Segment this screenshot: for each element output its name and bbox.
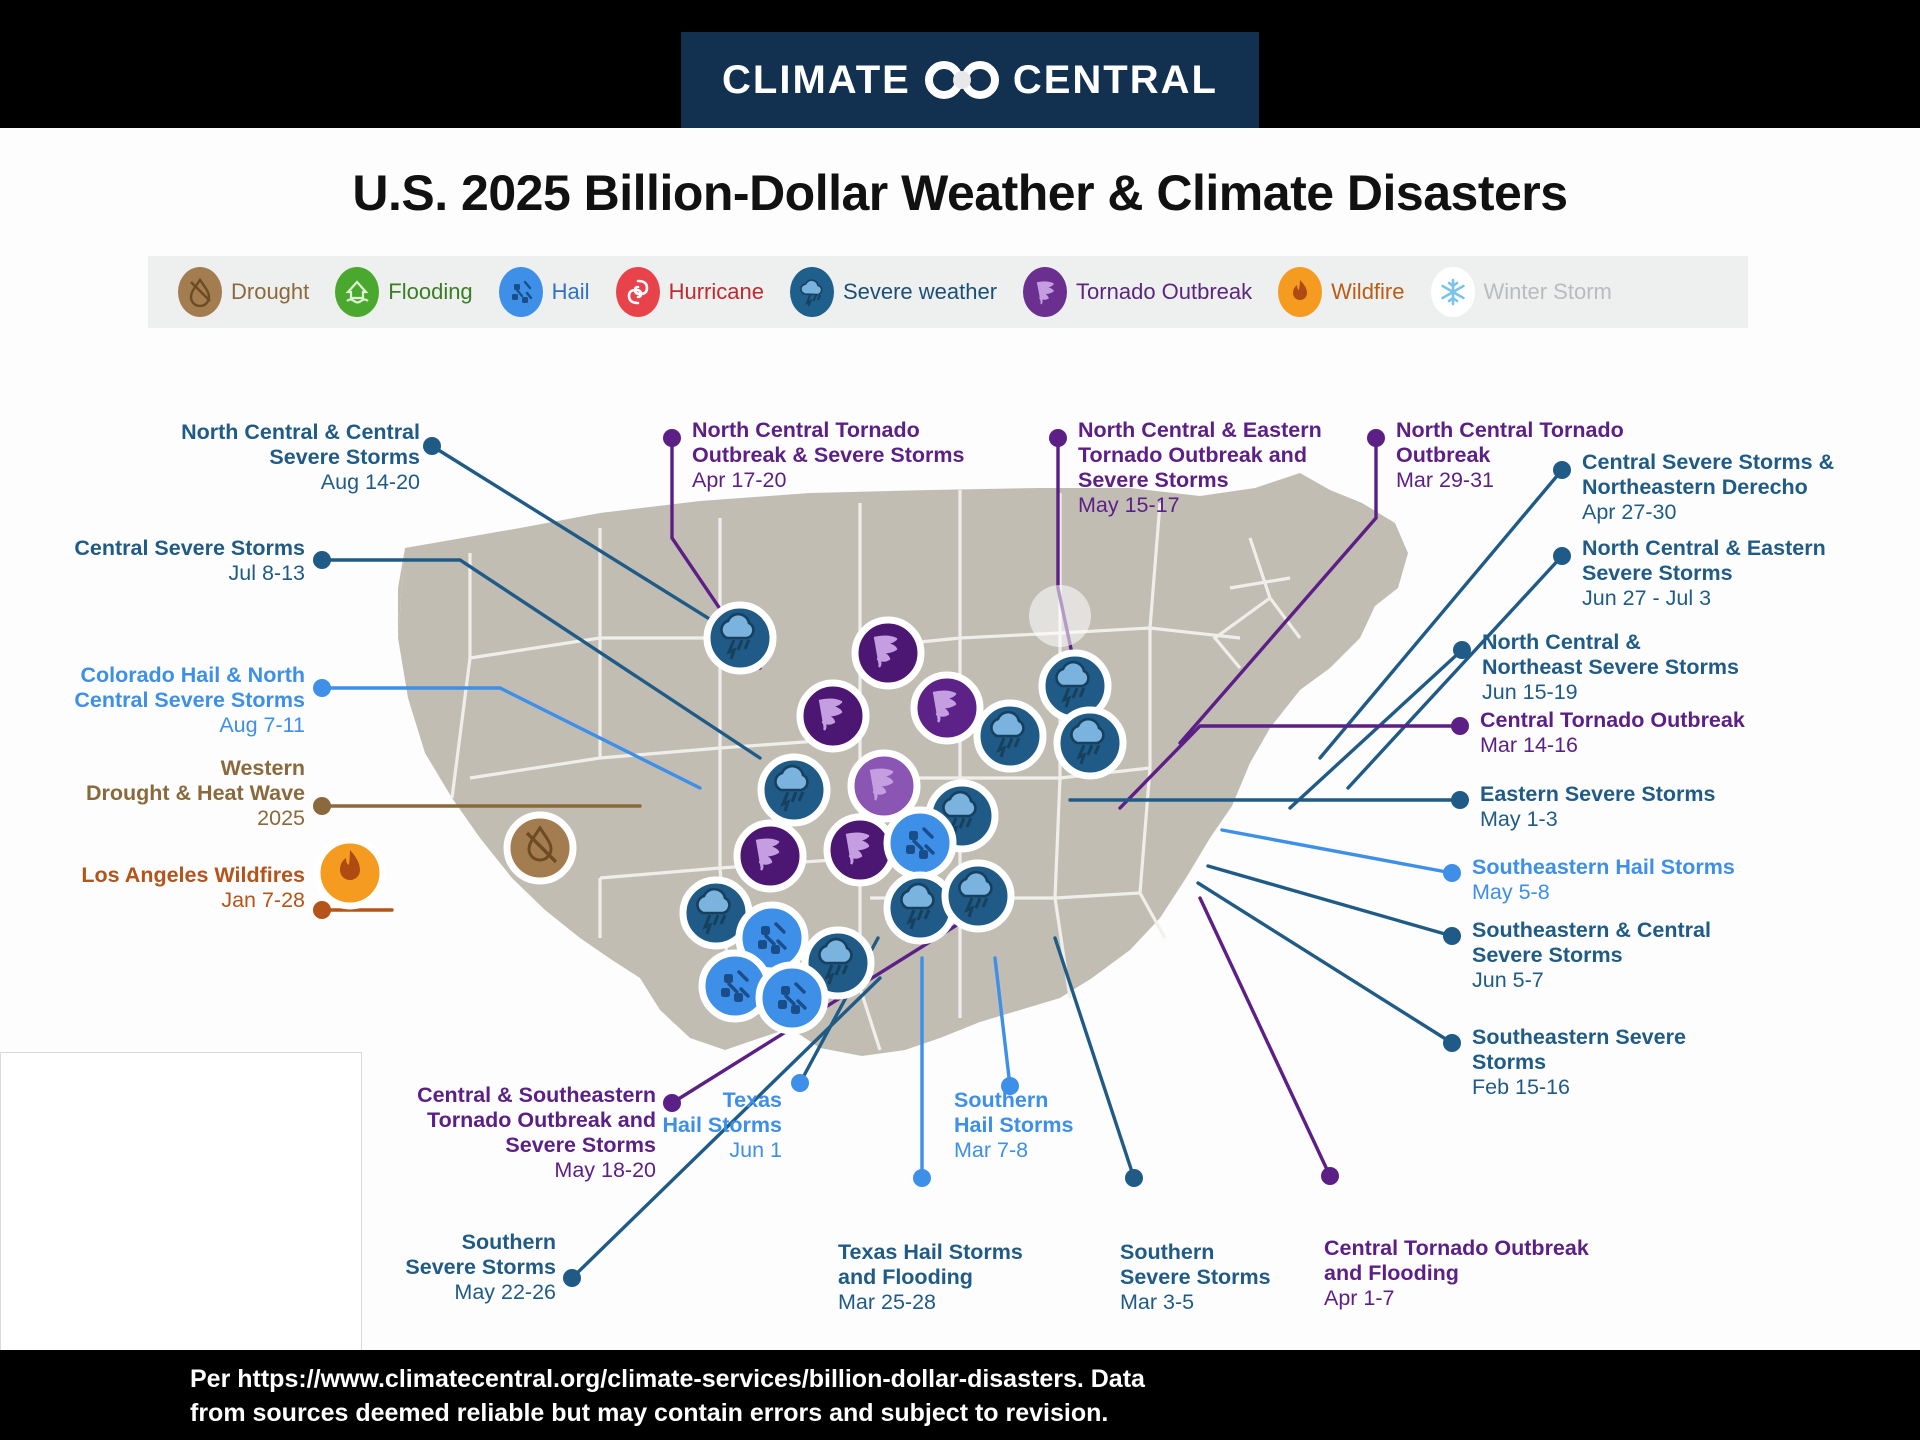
label-southern-hail-storms[interactable]: Southern Hail Storms Mar 7-8 (954, 1088, 1154, 1163)
legend-item-tornado[interactable]: Tornado Outbreak (1023, 267, 1252, 317)
page-title: U.S. 2025 Billion-Dollar Weather & Clima… (0, 164, 1920, 222)
label-north-central-tornado-outbreak-severe[interactable]: North Central Tornado Outbreak & Severe … (692, 418, 1022, 493)
label-title: North Central & Northeast Severe Storms (1482, 630, 1812, 680)
label-southeastern-severe-storms[interactable]: Southeastern Severe Storms Feb 15-16 (1472, 1025, 1802, 1100)
legend-label-hail: Hail (552, 279, 590, 305)
label-southern-severe-storms-mar[interactable]: Southern Severe Storms Mar 3-5 (1120, 1240, 1320, 1315)
marker-hail (759, 965, 825, 1031)
marker-tornado (855, 620, 921, 686)
label-western-drought-heat-wave[interactable]: Western Drought & Heat Wave 2025 (40, 756, 305, 831)
label-texas-hail-storms[interactable]: Texas Hail Storms Jun 1 (600, 1088, 782, 1163)
label-date: May 22-26 (340, 1280, 556, 1305)
label-southern-severe-storms-may[interactable]: Southern Severe Storms May 22-26 (340, 1230, 556, 1305)
infinity-logo-icon (925, 61, 999, 99)
legend-label-tornado: Tornado Outbreak (1076, 279, 1252, 305)
label-date: Apr 17-20 (692, 468, 1022, 493)
label-eastern-severe-storms[interactable]: Eastern Severe Storms May 1-3 (1480, 782, 1810, 832)
label-date: Mar 25-28 (838, 1290, 1074, 1315)
label-date: May 15-17 (1078, 493, 1378, 518)
legend-label-hurricane: Hurricane (669, 279, 764, 305)
marker-tornado (800, 683, 866, 749)
marker-tornado (827, 817, 893, 883)
label-title: North Central & Eastern Tornado Outbreak… (1078, 418, 1378, 493)
label-north-central-central-severe-storms[interactable]: North Central & Central Severe Storms Au… (100, 420, 420, 495)
label-date: Jun 15-19 (1482, 680, 1812, 705)
marker-severe-weather (1057, 710, 1123, 776)
label-title: Texas Hail Storms (600, 1088, 782, 1138)
legend: Drought Flooding Hail (148, 256, 1748, 328)
legend-item-drought[interactable]: Drought (178, 267, 309, 317)
label-title: Southern Hail Storms (954, 1088, 1154, 1138)
label-southeastern-central-severe-storms[interactable]: Southeastern & Central Severe Storms Jun… (1472, 918, 1802, 993)
severe-weather-icon (790, 267, 834, 317)
label-central-tornado-outbreak[interactable]: Central Tornado Outbreak Mar 14-16 (1480, 708, 1810, 758)
legend-item-hail[interactable]: Hail (499, 267, 590, 317)
legend-item-wildfire[interactable]: Wildfire (1278, 267, 1404, 317)
legend-label-winter-storm: Winter Storm (1484, 279, 1612, 305)
alaska-hawaii-inset (0, 1052, 362, 1361)
label-southeastern-hail-storms[interactable]: Southeastern Hail Storms May 5-8 (1472, 855, 1802, 905)
legend-label-flooding: Flooding (388, 279, 472, 305)
label-date: Aug 7-11 (40, 713, 305, 738)
label-colorado-hail-north-central[interactable]: Colorado Hail & North Central Severe Sto… (40, 663, 305, 738)
marker-severe-weather (945, 863, 1011, 929)
label-title: Los Angeles Wildfires (40, 863, 305, 888)
legend-item-hurricane[interactable]: Hurricane (616, 267, 764, 317)
label-title: Texas Hail Storms and Flooding (838, 1240, 1074, 1290)
marker-tornado (914, 675, 980, 741)
connector-southeastern-central (1208, 866, 1452, 936)
label-date: Mar 14-16 (1480, 733, 1810, 758)
label-title: Eastern Severe Storms (1480, 782, 1810, 807)
footer-text: Per https://www.climatecentral.org/clima… (190, 1362, 1145, 1430)
marker-winter-storm (1029, 585, 1091, 647)
label-central-severe-storms[interactable]: Central Severe Storms Jul 8-13 (40, 536, 305, 586)
label-date: Feb 15-16 (1472, 1075, 1802, 1100)
label-los-angeles-wildfires[interactable]: Los Angeles Wildfires Jan 7-28 (40, 863, 305, 913)
label-date: Jun 1 (600, 1138, 782, 1163)
label-north-central-northeast-severe-storms[interactable]: North Central & Northeast Severe Storms … (1482, 630, 1812, 705)
label-title: North Central Tornado Outbreak & Severe … (692, 418, 1022, 468)
label-title: North Central & Central Severe Storms (100, 420, 420, 470)
marker-tornado (737, 823, 803, 889)
label-north-central-eastern-severe-storms[interactable]: North Central & Eastern Severe Storms Ju… (1582, 536, 1912, 611)
legend-label-wildfire: Wildfire (1331, 279, 1404, 305)
content-sheet: U.S. 2025 Billion-Dollar Weather & Clima… (0, 128, 1920, 1350)
label-title: Southeastern Severe Storms (1472, 1025, 1802, 1075)
marker-hail (887, 810, 953, 876)
drought-icon (178, 267, 222, 317)
connector-southeastern-severe (1198, 883, 1452, 1043)
marker-severe-weather (707, 605, 773, 671)
label-title: Central Tornado Outbreak and Flooding (1324, 1236, 1654, 1286)
label-date: 2025 (40, 806, 305, 831)
label-title: Central Severe Storms & Northeastern Der… (1582, 450, 1912, 500)
legend-item-winter-storm[interactable]: Winter Storm (1431, 267, 1612, 317)
label-title: Colorado Hail & North Central Severe Sto… (40, 663, 305, 713)
label-texas-hail-storms-flooding[interactable]: Texas Hail Storms and Flooding Mar 25-28 (838, 1240, 1074, 1315)
label-title: Southeastern & Central Severe Storms (1472, 918, 1802, 968)
marker-wildfire (317, 840, 383, 906)
hurricane-icon (616, 267, 660, 317)
label-date: Apr 27-30 (1582, 500, 1912, 525)
label-title: North Central & Eastern Severe Storms (1582, 536, 1912, 586)
legend-label-drought: Drought (231, 279, 309, 305)
marker-severe-weather (887, 875, 953, 941)
legend-item-flooding[interactable]: Flooding (335, 267, 472, 317)
label-date: Jun 27 - Jul 3 (1582, 586, 1912, 611)
label-date: Mar 7-8 (954, 1138, 1154, 1163)
bottom-black-band: Per https://www.climatecentral.org/clima… (0, 1350, 1920, 1440)
legend-label-severe-weather: Severe weather (843, 279, 997, 305)
tornado-icon (1023, 267, 1067, 317)
label-date: May 1-3 (1480, 807, 1810, 832)
wildfire-icon (1278, 267, 1322, 317)
climate-central-logo: CLIMATE CENTRAL (681, 32, 1259, 128)
logo-text-right: CENTRAL (1013, 58, 1218, 103)
marker-severe-weather (977, 703, 1043, 769)
footer-line-1: Per https://www.climatecentral.org/clima… (190, 1362, 1145, 1396)
flooding-icon (335, 267, 379, 317)
connector-central-tornado-flooding (1200, 898, 1330, 1176)
marker-drought (507, 815, 573, 881)
label-date: Jun 5-7 (1472, 968, 1802, 993)
footer-line-2: from sources deemed reliable but may con… (190, 1396, 1145, 1430)
hail-icon (499, 267, 543, 317)
connector-southeastern-hail (1222, 830, 1452, 873)
label-central-tornado-outbreak-flooding[interactable]: Central Tornado Outbreak and Flooding Ap… (1324, 1236, 1654, 1311)
label-title: Western Drought & Heat Wave (40, 756, 305, 806)
label-title: Central Tornado Outbreak (1480, 708, 1810, 733)
legend-item-severe-weather[interactable]: Severe weather (790, 267, 997, 317)
winter-storm-icon (1431, 267, 1475, 317)
label-date: Apr 1-7 (1324, 1286, 1654, 1311)
label-title: Central Severe Storms (40, 536, 305, 561)
logo-text-left: CLIMATE (722, 58, 911, 103)
label-title: Southeastern Hail Storms (1472, 855, 1802, 880)
label-date: Jan 7-28 (40, 888, 305, 913)
label-date: Mar 3-5 (1120, 1290, 1320, 1315)
label-central-severe-northeastern-derecho[interactable]: Central Severe Storms & Northeastern Der… (1582, 450, 1912, 525)
label-north-central-eastern-tornado-outbreak[interactable]: North Central & Eastern Tornado Outbreak… (1078, 418, 1378, 518)
label-date: Aug 14-20 (100, 470, 420, 495)
label-title: Southern Severe Storms (340, 1230, 556, 1280)
marker-severe-weather (761, 757, 827, 823)
label-date: May 5-8 (1472, 880, 1802, 905)
label-title: Southern Severe Storms (1120, 1240, 1320, 1290)
infographic-page: CLIMATE CENTRAL U.S. 2025 Billion-Dollar… (0, 0, 1920, 1440)
label-date: Jul 8-13 (40, 561, 305, 586)
